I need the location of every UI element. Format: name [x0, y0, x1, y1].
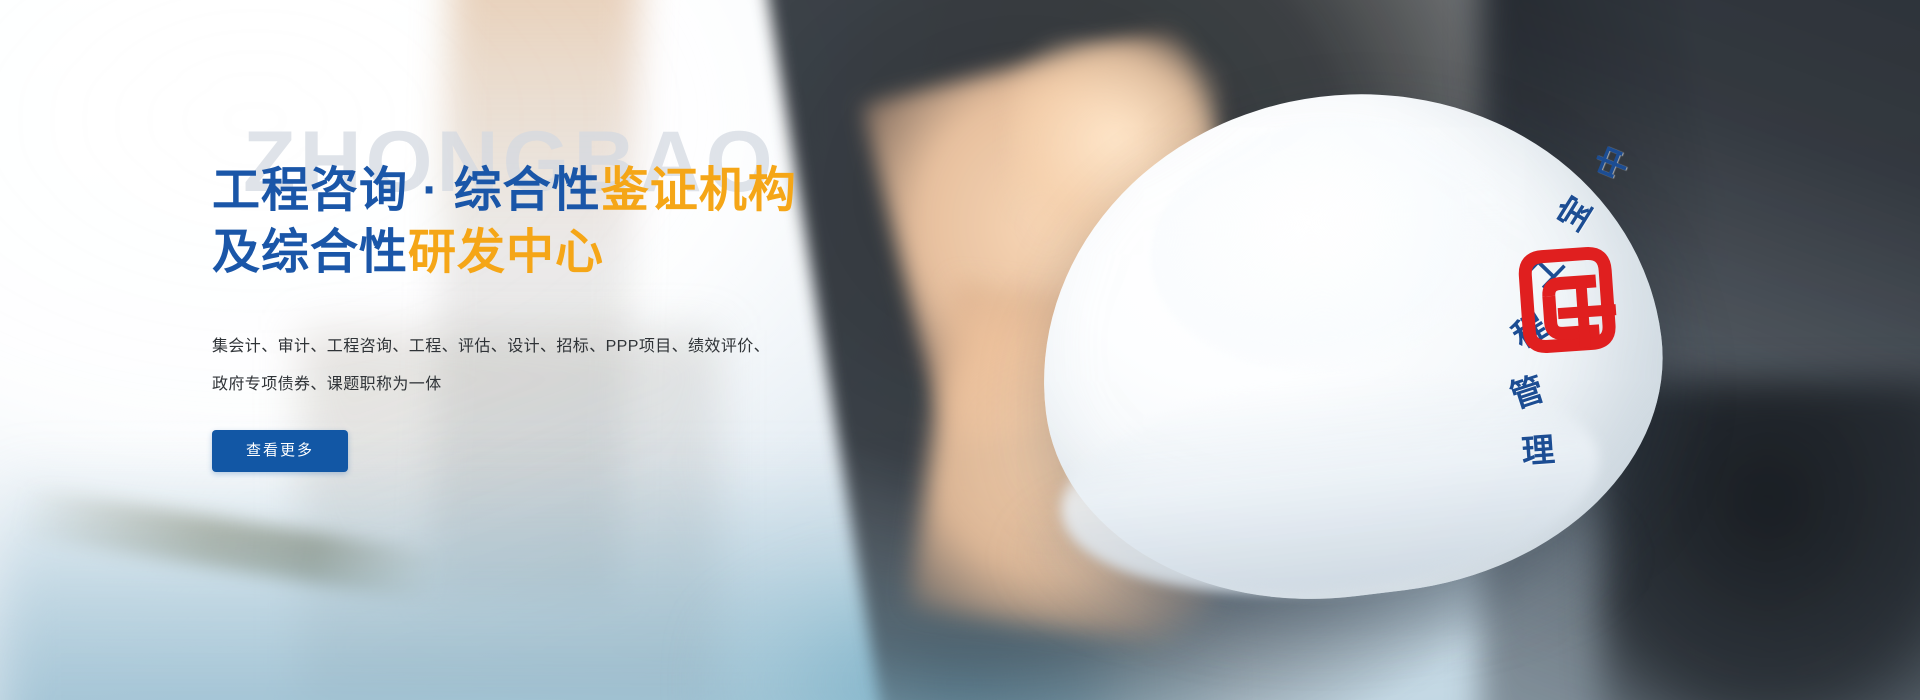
headline-line1-part1: 工程咨询	[212, 164, 408, 217]
headline-line2-part2: 研发中心	[408, 226, 604, 279]
helmet-brand-char-5: 理	[1521, 433, 1556, 468]
helmet-brand-char-1: 宝	[1552, 191, 1597, 236]
page-subtitle: 及综合性研发中心	[212, 222, 932, 284]
zhongbao-hexagon-logo-icon	[1493, 228, 1642, 367]
headline-line1-part2: 综合性	[454, 164, 601, 217]
description-line-1: 集会计、审计、工程咨询、工程、评估、设计、招标、PPP项目、绩效评价、	[212, 328, 812, 366]
page-title: 工程咨询 · 综合性鉴证机构	[212, 160, 932, 222]
headline-line1-part3: 鉴证机构	[601, 164, 797, 217]
headline-separator: ·	[408, 164, 454, 217]
hero-copy: 工程咨询 · 综合性鉴证机构 及综合性研发中心 集会计、审计、工程咨询、工程、评…	[212, 160, 932, 472]
view-more-button[interactable]: 查看更多	[212, 430, 348, 472]
hero-description: 集会计、审计、工程咨询、工程、评估、设计、招标、PPP项目、绩效评价、 政府专项…	[212, 328, 812, 404]
helmet-brand-char-4: 管	[1506, 372, 1548, 414]
helmet-brand-char-0: 中	[1591, 142, 1634, 185]
headline-line2-part1: 及综合性	[212, 226, 408, 279]
hero-banner: 中 宝 工 程 管 理 ZHONGBAO 工程咨询 · 综合性鉴证机构 及综合性…	[0, 0, 1920, 700]
description-line-2: 政府专项债券、课题职称为一体	[212, 366, 812, 404]
